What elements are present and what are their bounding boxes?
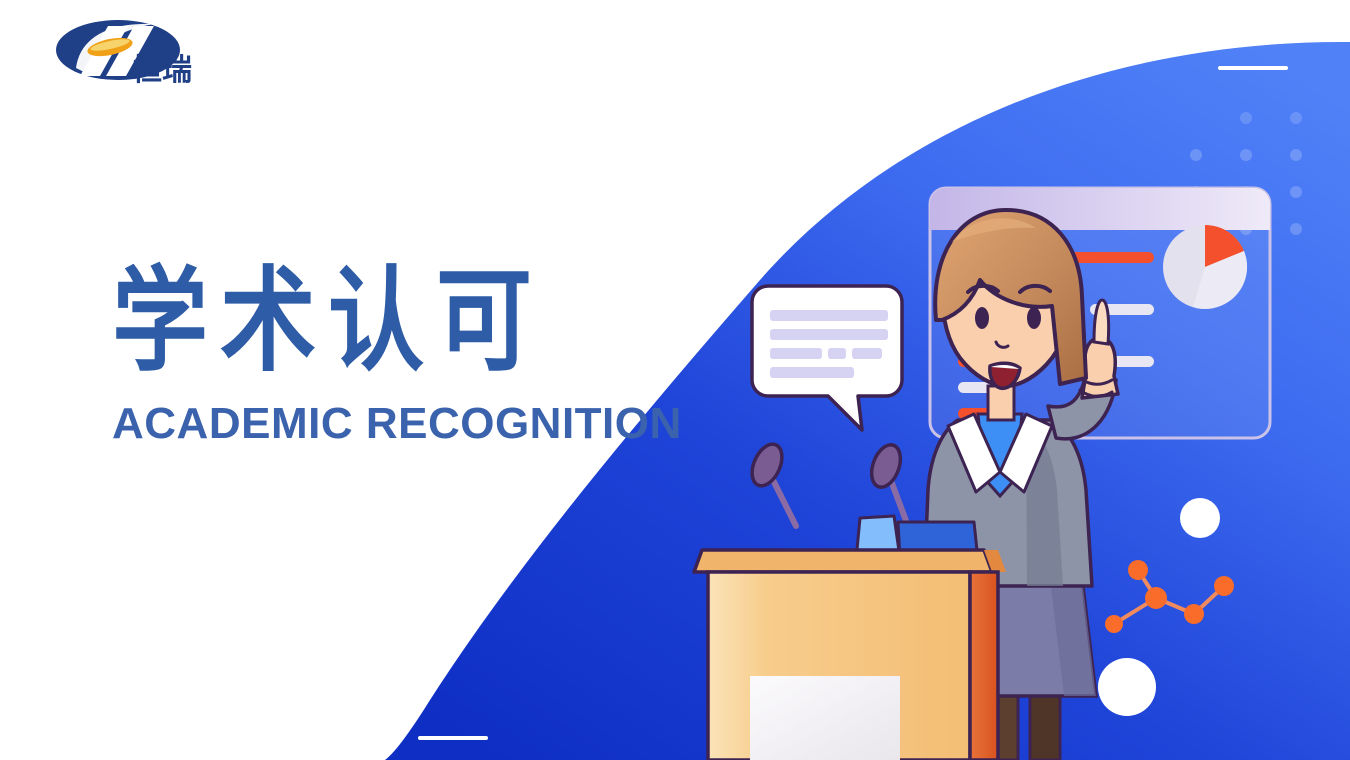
microphones bbox=[746, 440, 908, 526]
board-pie-chart bbox=[1163, 225, 1247, 309]
decor-rule-top bbox=[1218, 66, 1288, 70]
presentation-illustration bbox=[690, 170, 1310, 760]
page-title: 学术认可 bbox=[112, 262, 712, 381]
logo-text-cn: 恒瑞 bbox=[132, 53, 192, 88]
slide-canvas: 恒瑞 学术认可 ACADEMIC RECOGNITION bbox=[0, 0, 1350, 760]
hengrui-logo[interactable]: 恒瑞 bbox=[46, 14, 206, 94]
speech-bubble bbox=[752, 286, 902, 430]
podium bbox=[694, 550, 1006, 760]
molecule-network-icon bbox=[1098, 558, 1244, 638]
headline-block: 学术认可 ACADEMIC RECOGNITION bbox=[112, 262, 712, 449]
decor-rule-bottom bbox=[418, 736, 488, 740]
